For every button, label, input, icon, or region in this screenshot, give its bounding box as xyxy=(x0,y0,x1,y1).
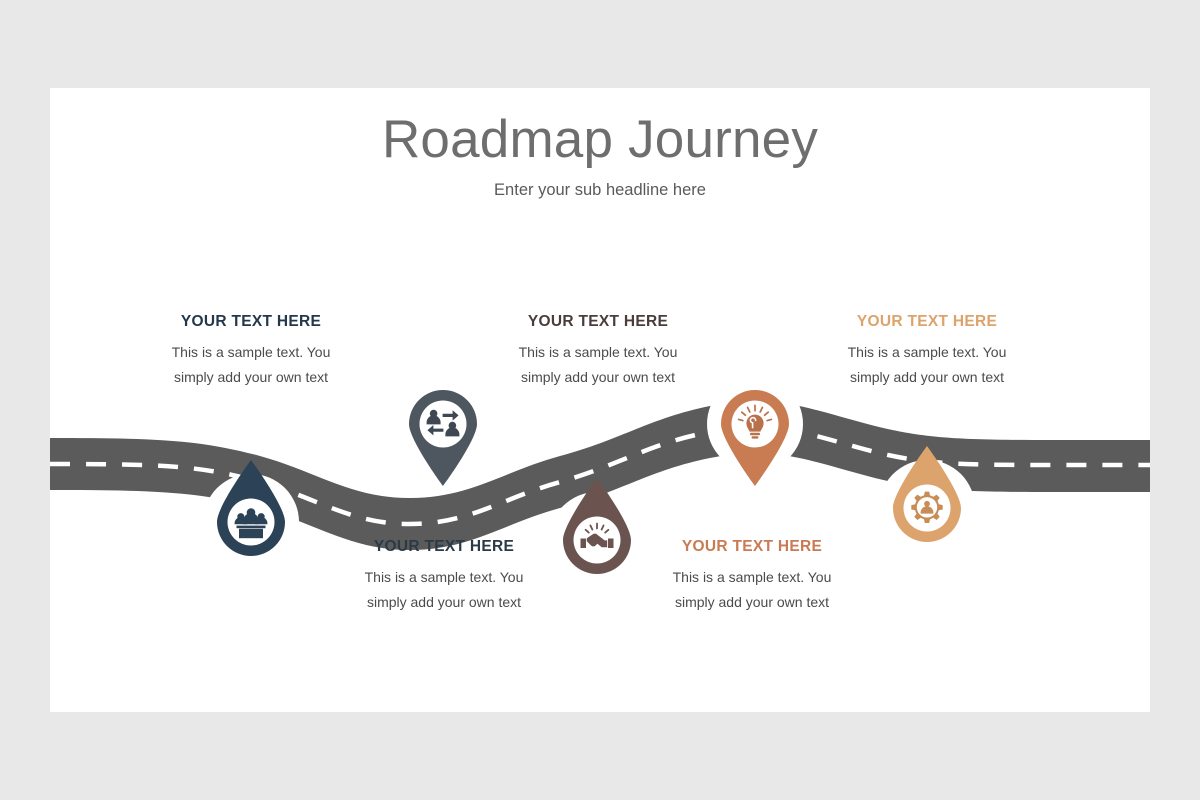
step-body-line1: This is a sample text. You xyxy=(136,340,366,365)
step-body: This is a sample text. You simply add yo… xyxy=(637,565,867,616)
textblock-step-5: YOUR TEXT HERE This is a sample text. Yo… xyxy=(812,313,1042,391)
step-title: YOUR TEXT HERE xyxy=(637,538,867,556)
step-title: YOUR TEXT HERE xyxy=(483,313,713,331)
pin-step-1[interactable] xyxy=(195,454,307,566)
step-body-line1: This is a sample text. You xyxy=(483,340,713,365)
pin-step-4[interactable] xyxy=(699,380,811,492)
step-body-line2: simply add your own text xyxy=(329,590,559,615)
page-title: Roadmap Journey xyxy=(50,110,1150,171)
step-body-line2: simply add your own text xyxy=(483,365,713,390)
step-body: This is a sample text. You simply add yo… xyxy=(329,565,559,616)
step-body-line1: This is a sample text. You xyxy=(812,340,1042,365)
step-body-line2: simply add your own text xyxy=(136,365,366,390)
textblock-step-3: YOUR TEXT HERE This is a sample text. Yo… xyxy=(483,313,713,391)
textblock-step-2: YOUR TEXT HERE This is a sample text. Yo… xyxy=(329,538,559,616)
pin-inner-disc xyxy=(420,401,467,448)
page-subtitle: Enter your sub headline here xyxy=(50,181,1150,200)
step-body-line1: This is a sample text. You xyxy=(329,565,559,590)
step-title: YOUR TEXT HERE xyxy=(329,538,559,556)
step-body-line2: simply add your own text xyxy=(637,590,867,615)
slide-canvas: Roadmap Journey Enter your sub headline … xyxy=(50,88,1150,712)
slide-header: Roadmap Journey Enter your sub headline … xyxy=(50,110,1150,200)
step-body-line1: This is a sample text. You xyxy=(637,565,867,590)
pin-step-5[interactable] xyxy=(871,440,983,552)
pin-step-2[interactable] xyxy=(387,380,499,492)
step-body: This is a sample text. You simply add yo… xyxy=(136,340,366,391)
gear-person-icon xyxy=(911,492,942,523)
step-title: YOUR TEXT HERE xyxy=(136,313,366,331)
step-title: YOUR TEXT HERE xyxy=(812,313,1042,331)
textblock-step-4: YOUR TEXT HERE This is a sample text. Yo… xyxy=(637,538,867,616)
step-body-line2: simply add your own text xyxy=(812,365,1042,390)
step-body: This is a sample text. You simply add yo… xyxy=(483,340,713,391)
step-body: This is a sample text. You simply add yo… xyxy=(812,340,1042,391)
textblock-step-1: YOUR TEXT HERE This is a sample text. Yo… xyxy=(136,313,366,391)
